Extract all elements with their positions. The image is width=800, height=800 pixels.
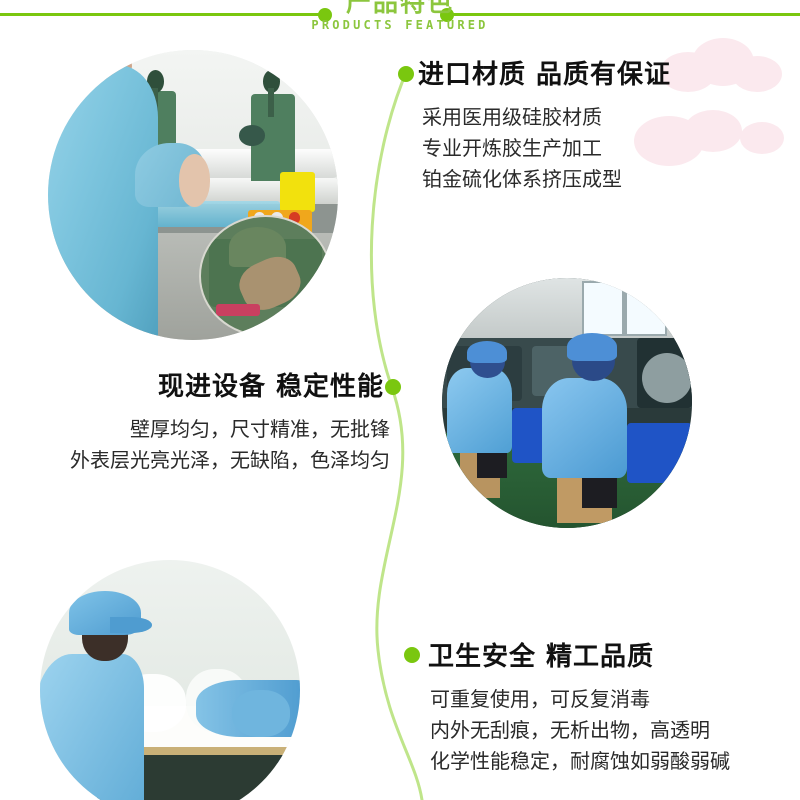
feature-lines-3: 可重复使用，可反复消毒 内外无刮痕，无析出物，高透明 化学性能稳定，耐腐蚀如弱酸… (430, 684, 730, 777)
photo-calender-machine (48, 50, 338, 340)
header-line-left (0, 13, 322, 16)
feature-heading-1: 进口材质 品质有保证 (418, 58, 671, 92)
product-features-page: 产品特色 PRODUCTS FEATURED (0, 0, 800, 800)
bullet-dot-block-1 (398, 66, 414, 82)
feature-heading-3: 卫生安全 精工品质 (428, 640, 730, 674)
feature-line: 外表层光亮光泽，无缺陷，色泽均匀 (30, 445, 390, 476)
photo-packing-table (40, 560, 300, 800)
feature-lines-1: 采用医用级硅胶材质 专业开炼胶生产加工 铂金硫化体系挤压成型 (422, 102, 671, 195)
section-header: 产品特色 PRODUCTS FEATURED (0, 0, 800, 46)
feature-line: 可重复使用，可反复消毒 (430, 684, 730, 715)
header-title-cn: 产品特色 (345, 0, 455, 18)
feature-line: 采用医用级硅胶材质 (422, 102, 671, 133)
feature-line: 内外无刮痕，无析出物，高透明 (430, 715, 730, 746)
feature-block-advanced-equipment: 现进设备 稳定性能 壁厚均匀，尺寸精准，无批锋 外表层光亮光泽，无缺陷，色泽均匀 (30, 370, 390, 476)
magnifier-inset (199, 215, 332, 337)
feature-line: 铂金硫化体系挤压成型 (422, 164, 671, 195)
header-line-right (452, 13, 800, 16)
feature-line: 壁厚均匀，尺寸精准，无批锋 (30, 414, 390, 445)
feature-heading-2: 现进设备 稳定性能 (30, 370, 390, 404)
photo-workshop-workers (442, 278, 692, 528)
feature-block-imported-material: 进口材质 品质有保证 采用医用级硅胶材质 专业开炼胶生产加工 铂金硫化体系挤压成… (418, 58, 671, 195)
feature-lines-2: 壁厚均匀，尺寸精准，无批锋 外表层光亮光泽，无缺陷，色泽均匀 (30, 414, 390, 476)
feature-block-hygiene-safety: 卫生安全 精工品质 可重复使用，可反复消毒 内外无刮痕，无析出物，高透明 化学性… (428, 640, 730, 777)
feature-line: 化学性能稳定，耐腐蚀如弱酸弱碱 (430, 746, 730, 777)
header-title-en: PRODUCTS FEATURED (280, 18, 520, 32)
feature-line: 专业开炼胶生产加工 (422, 133, 671, 164)
bullet-dot-block-3 (404, 647, 420, 663)
